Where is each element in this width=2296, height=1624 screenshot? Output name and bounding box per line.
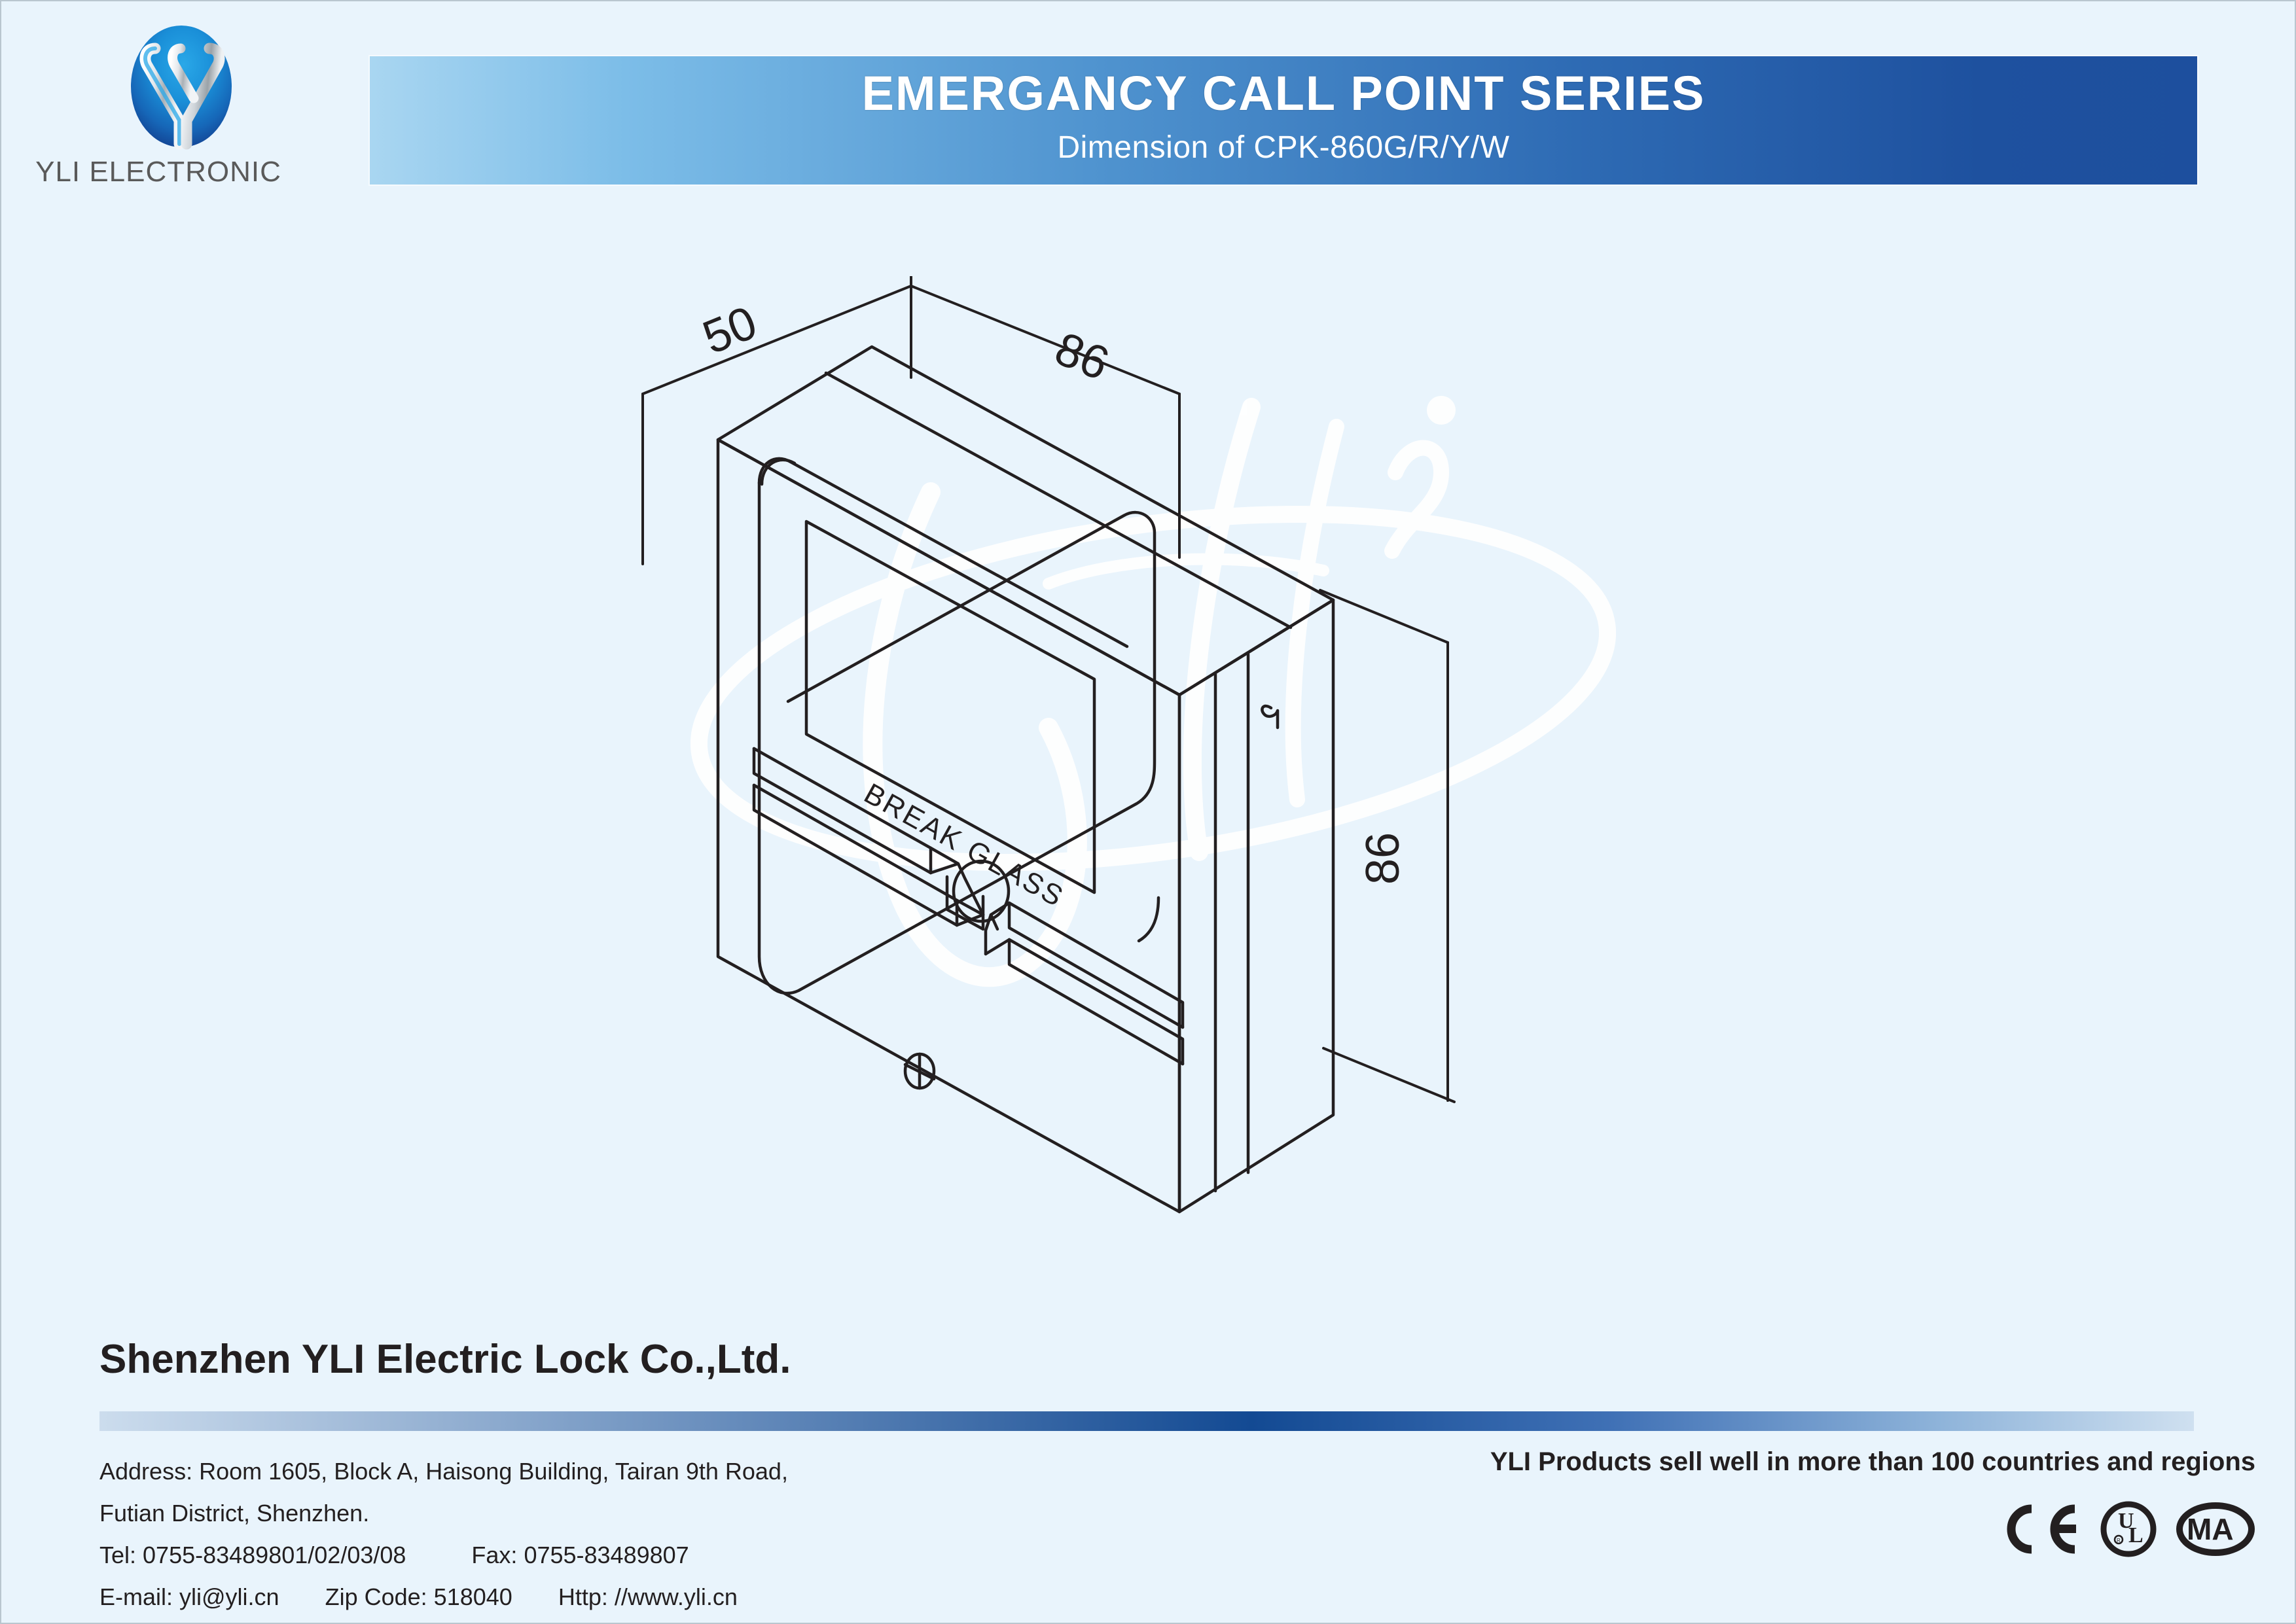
svg-text:MA: MA bbox=[2187, 1512, 2234, 1546]
ma-mark-icon: MA bbox=[2176, 1499, 2255, 1559]
ul-mark-icon: U L R bbox=[2098, 1499, 2159, 1559]
zip-code: Zip Code: 518040 bbox=[325, 1576, 512, 1618]
fax: Fax: 0755-83489807 bbox=[471, 1534, 689, 1576]
datasheet-page: YLI ELECTRONIC EMERGANCY CALL POINT SERI… bbox=[1, 1, 2295, 1623]
address-line-2: Futian District, Shenzhen. bbox=[99, 1492, 1212, 1534]
press-area-right-band bbox=[1009, 903, 1183, 1064]
company-name: Shenzhen YLI Electric Lock Co.,Ltd. bbox=[99, 1336, 791, 1383]
certification-marks: U L R MA bbox=[1234, 1499, 2255, 1559]
svg-text:R: R bbox=[2117, 1538, 2121, 1544]
page-subtitle: Dimension of CPK-860G/R/Y/W bbox=[370, 130, 2197, 166]
yli-y-logo-icon bbox=[126, 21, 237, 152]
contact-block: Address: Room 1605, Block A, Haisong Bui… bbox=[99, 1451, 1212, 1618]
website[interactable]: Http: //www.yli.cn bbox=[558, 1576, 738, 1618]
email[interactable]: E-mail: yli@yli.cn bbox=[99, 1583, 279, 1610]
brand-logo-block: YLI ELECTRONIC bbox=[21, 13, 296, 190]
product-dimension-drawing: 50 86 86 BREAK GLASS bbox=[590, 276, 1768, 1258]
svg-text:L: L bbox=[2128, 1523, 2144, 1547]
telephone: Tel: 0755-83489801/02/03/08 bbox=[99, 1542, 406, 1568]
screw-icon bbox=[905, 1054, 934, 1088]
chevron-right-icon bbox=[986, 903, 1009, 954]
dimension-label-depth: 50 bbox=[696, 296, 764, 364]
tagline: YLI Products sell well in more than 100 … bbox=[1234, 1447, 2255, 1477]
page-title: EMERGANCY CALL POINT SERIES bbox=[370, 65, 2197, 121]
marketing-block: YLI Products sell well in more than 100 … bbox=[1234, 1447, 2255, 1559]
dimension-label-width: 86 bbox=[1048, 323, 1116, 391]
dimension-label-height: 86 bbox=[1357, 832, 1409, 885]
footer-divider bbox=[99, 1411, 2194, 1431]
brand-name-label: YLI ELECTRONIC bbox=[21, 156, 296, 188]
ce-mark-icon bbox=[1998, 1501, 2081, 1557]
header-banner: EMERGANCY CALL POINT SERIES Dimension of… bbox=[370, 56, 2197, 185]
address-line-1: Address: Room 1605, Block A, Haisong Bui… bbox=[99, 1451, 1212, 1492]
